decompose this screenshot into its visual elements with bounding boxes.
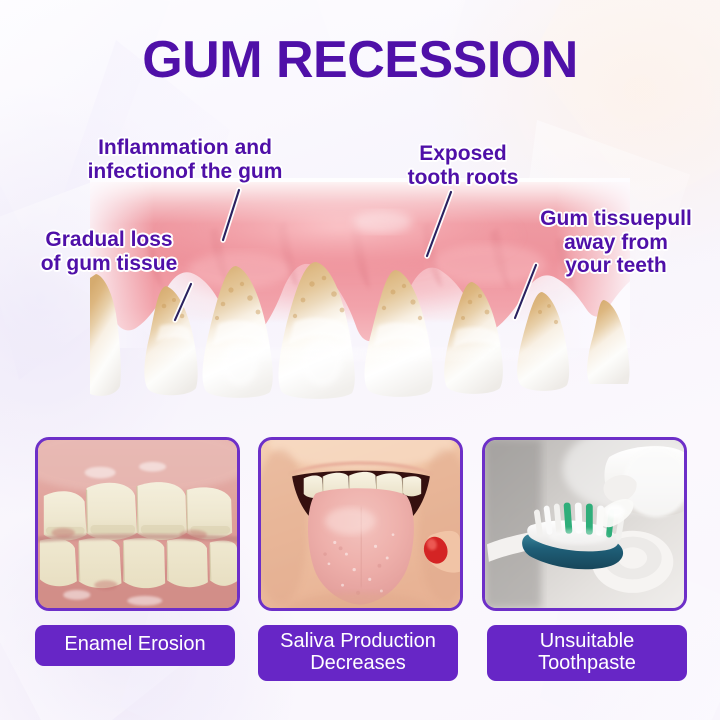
callout-line: Exposed — [388, 142, 538, 166]
toothbrush-illustration — [485, 440, 684, 608]
caption-line: Saliva Production — [266, 631, 450, 653]
cause-card[interactable]: Saliva Production Decreases — [258, 437, 463, 681]
callout-line: tooth roots — [388, 166, 538, 190]
caption-line: Unsuitable — [495, 631, 679, 653]
card-caption: Unsuitable Toothpaste — [487, 625, 687, 681]
cause-card[interactable]: Unsuitable Toothpaste — [482, 437, 687, 681]
caption-line: Toothpaste — [495, 653, 679, 675]
leader-inflammation — [223, 190, 239, 240]
callout-inflammation: Inflammation and infectionof the gum — [50, 136, 320, 183]
callout-gradual-loss: Gradual loss of gum tissue — [14, 228, 204, 275]
caption-line: Enamel Erosion — [43, 634, 227, 656]
teeth-closeup-photo — [35, 437, 240, 611]
infographic-poster: GUM RECESSION — [0, 0, 720, 720]
leader-gradual-loss — [175, 284, 191, 320]
callout-line: of gum tissue — [14, 252, 204, 276]
toothbrush-toothpaste-photo — [482, 437, 687, 611]
card-caption: Saliva Production Decreases — [258, 625, 458, 681]
leader-exposed-roots — [427, 192, 451, 256]
callout-exposed-roots: Exposed tooth roots — [388, 142, 538, 189]
caption-line: Decreases — [266, 653, 450, 675]
callout-line: away from — [516, 231, 716, 255]
callout-line: Inflammation and — [50, 136, 320, 160]
callout-line: Gum tissuepull — [516, 207, 716, 231]
callout-line: your teeth — [516, 254, 716, 278]
card-caption: Enamel Erosion — [35, 625, 235, 666]
callout-line: Gradual loss — [14, 228, 204, 252]
teeth-closeup-illustration — [38, 440, 237, 608]
tongue-mouth-illustration — [261, 440, 460, 608]
callout-gum-pull: Gum tissuepull away from your teeth — [516, 207, 716, 278]
cause-card[interactable]: Enamel Erosion — [35, 437, 240, 666]
cause-cards: Enamel Erosion — [0, 437, 720, 692]
tongue-out-mouth-photo — [258, 437, 463, 611]
callout-line: infectionof the gum — [50, 160, 320, 184]
